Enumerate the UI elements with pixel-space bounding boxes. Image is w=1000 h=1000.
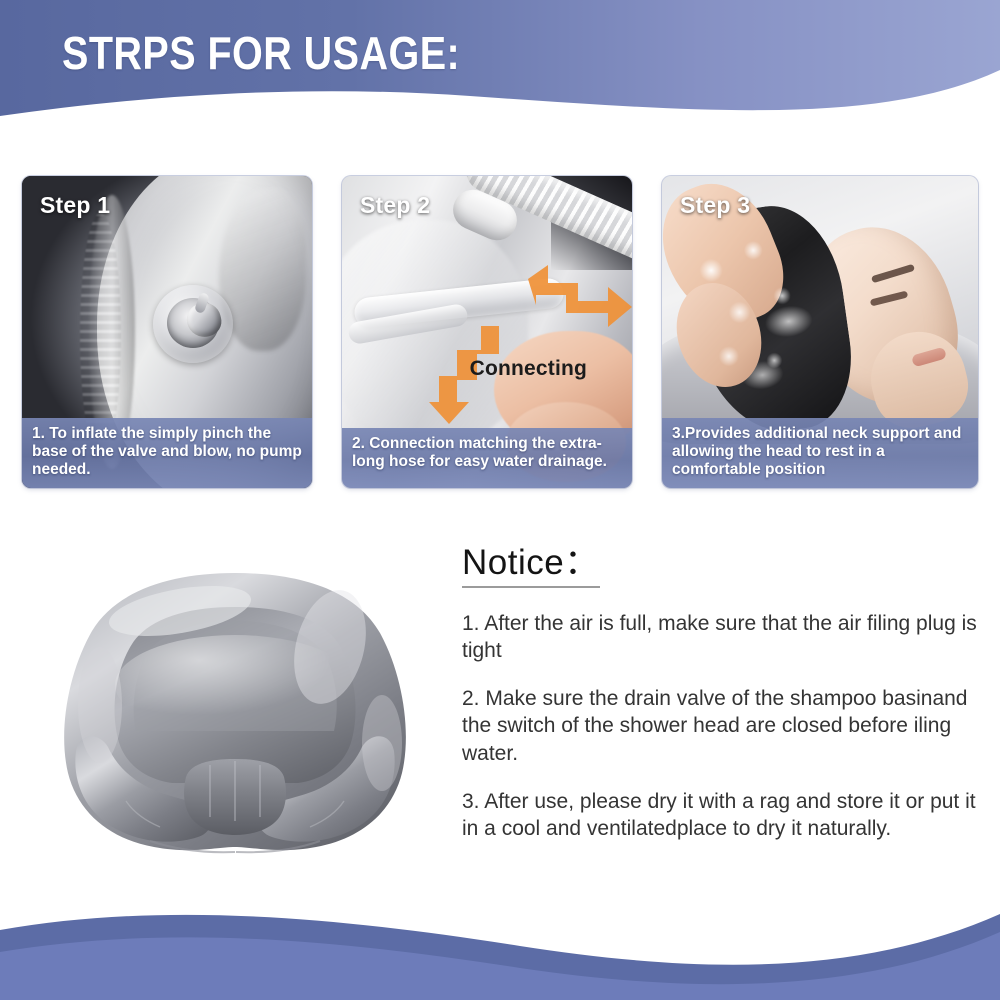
steps-row: Step 1 1. To inflate the simply pinch th… (22, 176, 978, 488)
notice-list: 1. After the air is full, make sure that… (462, 610, 977, 843)
air-valve-icon (153, 285, 233, 363)
step-1-caption: 1. To inflate the simply pinch the base … (22, 418, 312, 488)
step-2-caption: 2. Connection matching the extra-long ho… (342, 428, 632, 488)
header-banner: STRPS FOR USAGE: (0, 0, 1000, 132)
lower-section: Notice： 1. After the air is full, make s… (0, 530, 1000, 900)
connecting-annotation: Connecting (470, 357, 588, 381)
product-image (30, 555, 440, 885)
inflatable-basin-illustration (30, 555, 440, 885)
footer-wave-shape (0, 890, 1000, 1000)
step-panel-2[interactable]: Connecting Step 2 2. Connection matching… (342, 176, 632, 488)
step-1-label: Step 1 (40, 192, 110, 219)
notice-item: 1. After the air is full, make sure that… (462, 610, 977, 665)
notice-block: Notice： 1. After the air is full, make s… (462, 544, 977, 843)
step-2-label: Step 2 (360, 192, 430, 219)
notice-title: Notice： (462, 544, 600, 588)
footer-banner (0, 890, 1000, 1000)
zigzag-arrow-icon (522, 257, 632, 335)
notice-item: 3. After use, please dry it with a rag a… (462, 788, 977, 843)
step-panel-3[interactable]: Step 3 3.Provides additional neck suppor… (662, 176, 978, 488)
notice-item: 2. Make sure the drain valve of the sham… (462, 685, 977, 767)
step-3-caption: 3.Provides additional neck support and a… (662, 418, 978, 488)
page-title: STRPS FOR USAGE: (62, 26, 460, 80)
step-panel-1[interactable]: Step 1 1. To inflate the simply pinch th… (22, 176, 312, 488)
step-3-label: Step 3 (680, 192, 750, 219)
